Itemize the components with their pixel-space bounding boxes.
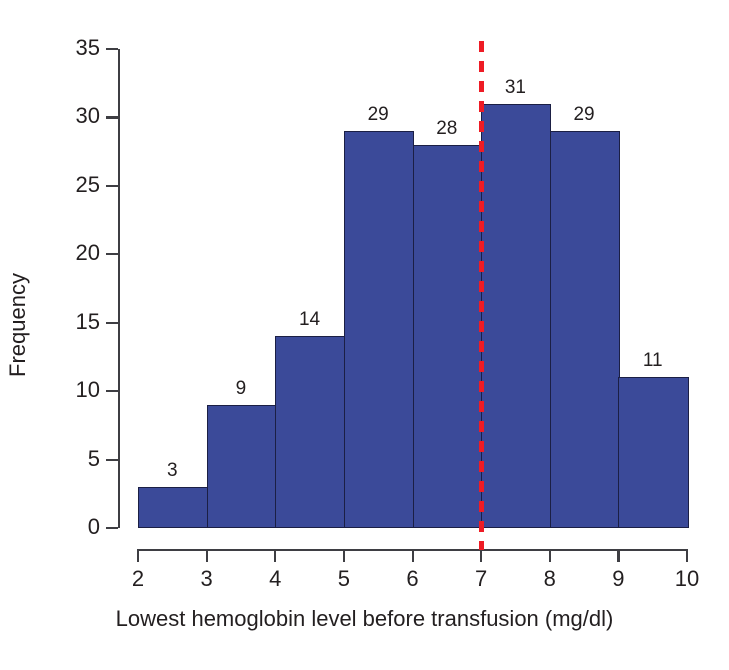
y-axis-tick bbox=[106, 48, 118, 50]
x-axis-tick bbox=[480, 549, 482, 562]
x-axis-tick-label: 8 bbox=[520, 568, 580, 590]
bar-value-label: 9 bbox=[211, 379, 271, 398]
bar-value-label: 14 bbox=[280, 310, 340, 329]
histogram-bar bbox=[550, 131, 620, 528]
y-axis-line bbox=[118, 49, 120, 528]
y-axis-tick-label: 0 bbox=[44, 516, 100, 538]
histogram-bar bbox=[275, 336, 345, 528]
histogram-bar bbox=[344, 131, 414, 528]
x-axis-tick-label: 10 bbox=[657, 568, 717, 590]
x-axis-title: Lowest hemoglobin level before transfusi… bbox=[0, 606, 729, 632]
y-axis-tick-label: 30 bbox=[44, 105, 100, 127]
x-axis-tick bbox=[274, 549, 276, 562]
x-axis-tick-label: 5 bbox=[314, 568, 374, 590]
threshold-reference-line-icon bbox=[479, 41, 484, 550]
x-axis-tick-label: 7 bbox=[451, 568, 511, 590]
x-axis-tick-label: 4 bbox=[245, 568, 305, 590]
histogram-bar bbox=[481, 104, 551, 528]
histogram-bar bbox=[138, 487, 208, 528]
x-axis-tick bbox=[617, 549, 619, 562]
x-axis-tick-label: 6 bbox=[383, 568, 443, 590]
x-axis-tick bbox=[412, 549, 414, 562]
y-axis-tick-label: 35 bbox=[44, 37, 100, 59]
bar-value-label: 28 bbox=[417, 119, 477, 138]
y-axis-tick-label: 25 bbox=[44, 174, 100, 196]
y-axis-tick bbox=[106, 390, 118, 392]
y-axis-tick bbox=[106, 527, 118, 529]
bar-value-label: 3 bbox=[142, 461, 202, 480]
histogram-bar bbox=[413, 145, 483, 528]
histogram-bar bbox=[207, 405, 277, 528]
x-axis-tick-label: 9 bbox=[588, 568, 648, 590]
y-axis-tick bbox=[106, 322, 118, 324]
x-axis-tick bbox=[137, 549, 139, 562]
histogram-figure: 05101520253035 Frequency 2345678910 Lowe… bbox=[0, 0, 729, 670]
x-axis-tick-label: 3 bbox=[177, 568, 237, 590]
histogram-bar bbox=[618, 377, 688, 528]
bar-value-label: 29 bbox=[348, 105, 408, 124]
y-axis-tick bbox=[106, 253, 118, 255]
y-axis-title: Frequency bbox=[5, 245, 31, 405]
y-axis-tick-label: 10 bbox=[44, 379, 100, 401]
y-axis-tick bbox=[106, 185, 118, 187]
x-axis-tick-label: 2 bbox=[108, 568, 168, 590]
bar-value-label: 31 bbox=[485, 78, 545, 97]
y-axis-tick-label: 20 bbox=[44, 242, 100, 264]
x-axis-tick bbox=[549, 549, 551, 562]
y-axis-tick bbox=[106, 459, 118, 461]
x-axis-tick bbox=[686, 549, 688, 562]
bar-value-label: 29 bbox=[554, 105, 614, 124]
y-axis-tick bbox=[106, 116, 118, 118]
x-axis-tick bbox=[343, 549, 345, 562]
x-axis-tick bbox=[206, 549, 208, 562]
y-axis-tick-label: 5 bbox=[44, 448, 100, 470]
y-axis-tick-label: 15 bbox=[44, 311, 100, 333]
bar-value-label: 11 bbox=[623, 351, 683, 370]
